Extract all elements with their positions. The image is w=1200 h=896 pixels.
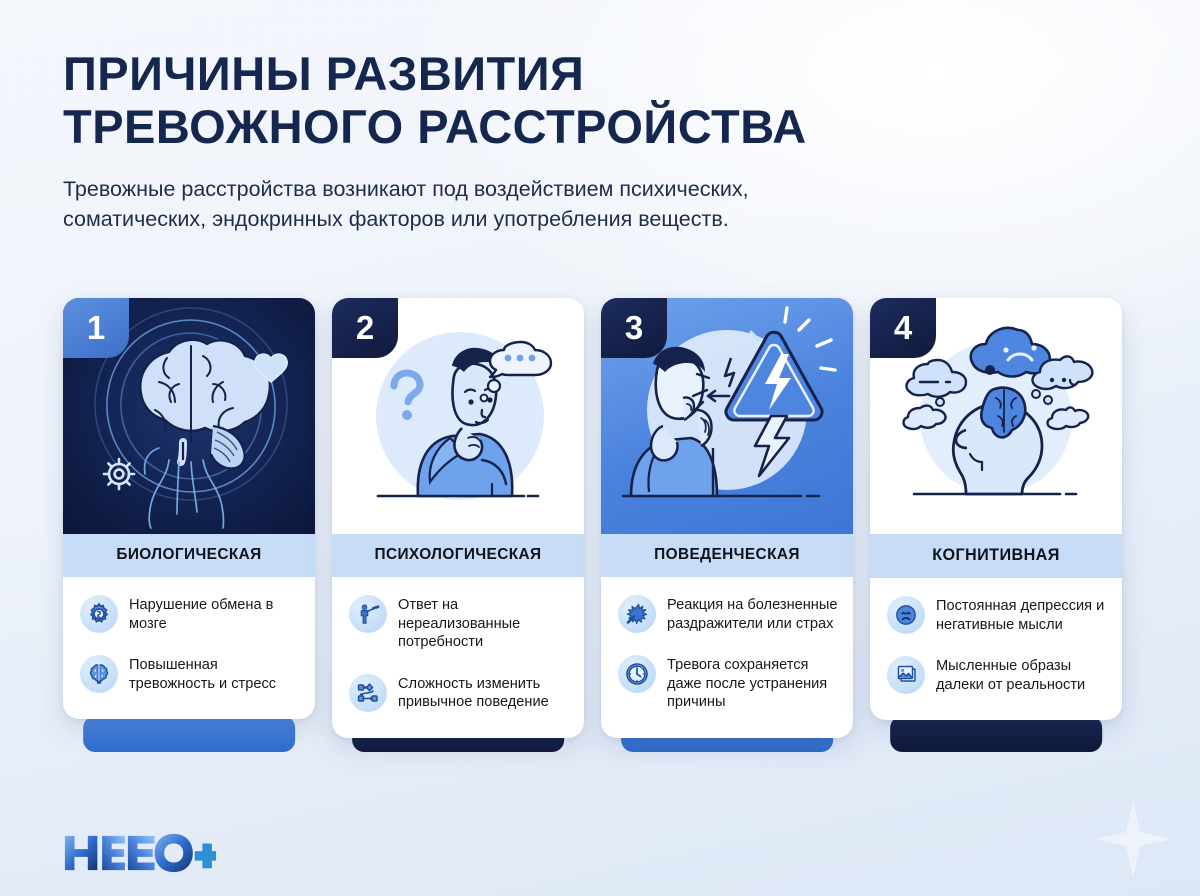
bullet-text: Постоянная депрессия и негативные мысли xyxy=(936,596,1107,634)
card-wrapper-3: 3 ПОВЕДЕНЧЕСКАЯ Реакция на болезненные р… xyxy=(601,298,853,738)
header: ПРИЧИНЫ РАЗВИТИЯ ТРЕВОЖНОГО РАССТРОЙСТВА… xyxy=(63,48,1073,235)
card-bullets-2: Ответ на нереализованные потребности xyxy=(332,577,584,738)
bullet-text: Повышенная тревожность и стресс xyxy=(129,655,300,693)
card-illustration-1: 1 xyxy=(63,298,315,534)
bullet-item: Нарушение обмена в мозге xyxy=(80,595,300,633)
card-illustration-4: 4 xyxy=(870,298,1122,534)
card-cognitive[interactable]: 4 КОГНИТИВНАЯ Постоянная депрессия и нег… xyxy=(870,298,1122,720)
neo-plus-logo-icon xyxy=(63,832,216,874)
bullet-item: Повышенная тревожность и стресс xyxy=(80,655,300,693)
subtitle-line-2: соматических, эндокринных факторов или у… xyxy=(63,205,1023,235)
cards-row: 1 БИОЛОГИЧЕСКАЯ Нарушение обмена в мозге xyxy=(63,298,1137,738)
bullet-item: Реакция на болезненные раздражители или … xyxy=(618,595,838,633)
card-behavioral[interactable]: 3 ПОВЕДЕНЧЕСКАЯ Реакция на болезненные р… xyxy=(601,298,853,738)
title-line-2: ТРЕВОЖНОГО РАССТРОЙСТВА xyxy=(63,101,1073,154)
bullet-text: Реакция на болезненные раздражители или … xyxy=(667,595,838,633)
burst-icon xyxy=(618,595,656,633)
card-label-4: КОГНИТИВНАЯ xyxy=(870,534,1122,578)
card-psychological[interactable]: 2 ПСИХОЛОГИЧЕСКАЯ Ответ на нереализованн… xyxy=(332,298,584,738)
bullet-text: Ответ на нереализованные потребности xyxy=(398,595,569,652)
subtitle-line-1: Тревожные расстройства возникают под воз… xyxy=(63,175,1023,205)
bullet-item: Ответ на нереализованные потребности xyxy=(349,595,569,652)
brand-logo xyxy=(63,832,216,874)
bullet-item: Сложность изменить привычное поведение xyxy=(349,674,569,712)
person-reaching-icon xyxy=(349,595,387,633)
page-subtitle: Тревожные расстройства возникают под воз… xyxy=(63,175,1023,234)
card-label-3: ПОВЕДЕНЧЕСКАЯ xyxy=(601,534,853,577)
clock-icon xyxy=(618,655,656,693)
card-label-2: ПСИХОЛОГИЧЕСКАЯ xyxy=(332,534,584,577)
images-icon xyxy=(887,656,925,694)
card-illustration-3: 3 xyxy=(601,298,853,534)
flowchart-icon xyxy=(349,674,387,712)
bullet-text: Нарушение обмена в мозге xyxy=(129,595,300,633)
bullet-item: Мысленные образы далеки от реальности xyxy=(887,656,1107,694)
bullet-item: Постоянная депрессия и негативные мысли xyxy=(887,596,1107,634)
bullet-item: Тревога сохраняется даже после устранени… xyxy=(618,655,838,712)
bullet-text: Тревога сохраняется даже после устранени… xyxy=(667,655,838,712)
card-tab-1 xyxy=(83,716,295,752)
card-wrapper-1: 1 БИОЛОГИЧЕСКАЯ Нарушение обмена в мозге xyxy=(63,298,315,738)
card-wrapper-4: 4 КОГНИТИВНАЯ Постоянная депрессия и нег… xyxy=(870,298,1122,738)
card-wrapper-2: 2 ПСИХОЛОГИЧЕСКАЯ Ответ на нереализованн… xyxy=(332,298,584,738)
card-number-badge-4: 4 xyxy=(870,298,936,358)
brain-icon xyxy=(80,655,118,693)
card-bullets-1: Нарушение обмена в мозге Повышенная трев… xyxy=(63,577,315,719)
gear-serotonin-icon xyxy=(80,595,118,633)
card-bullets-3: Реакция на болезненные раздражители или … xyxy=(601,577,853,738)
bullet-text: Сложность изменить привычное поведение xyxy=(398,674,569,712)
card-number-badge-1: 1 xyxy=(63,298,129,358)
sparkle-decoration xyxy=(1094,800,1172,878)
card-bullets-4: Постоянная депрессия и негативные мысли … xyxy=(870,578,1122,720)
sad-face-icon xyxy=(887,596,925,634)
card-number-badge-2: 2 xyxy=(332,298,398,358)
card-illustration-2: 2 xyxy=(332,298,584,534)
card-label-1: БИОЛОГИЧЕСКАЯ xyxy=(63,534,315,577)
card-biological[interactable]: 1 БИОЛОГИЧЕСКАЯ Нарушение обмена в мозге xyxy=(63,298,315,719)
title-line-1: ПРИЧИНЫ РАЗВИТИЯ xyxy=(63,48,1073,101)
card-number-badge-3: 3 xyxy=(601,298,667,358)
card-tab-4 xyxy=(890,716,1102,752)
page-title: ПРИЧИНЫ РАЗВИТИЯ ТРЕВОЖНОГО РАССТРОЙСТВА xyxy=(63,48,1073,153)
bullet-text: Мысленные образы далеки от реальности xyxy=(936,656,1107,694)
